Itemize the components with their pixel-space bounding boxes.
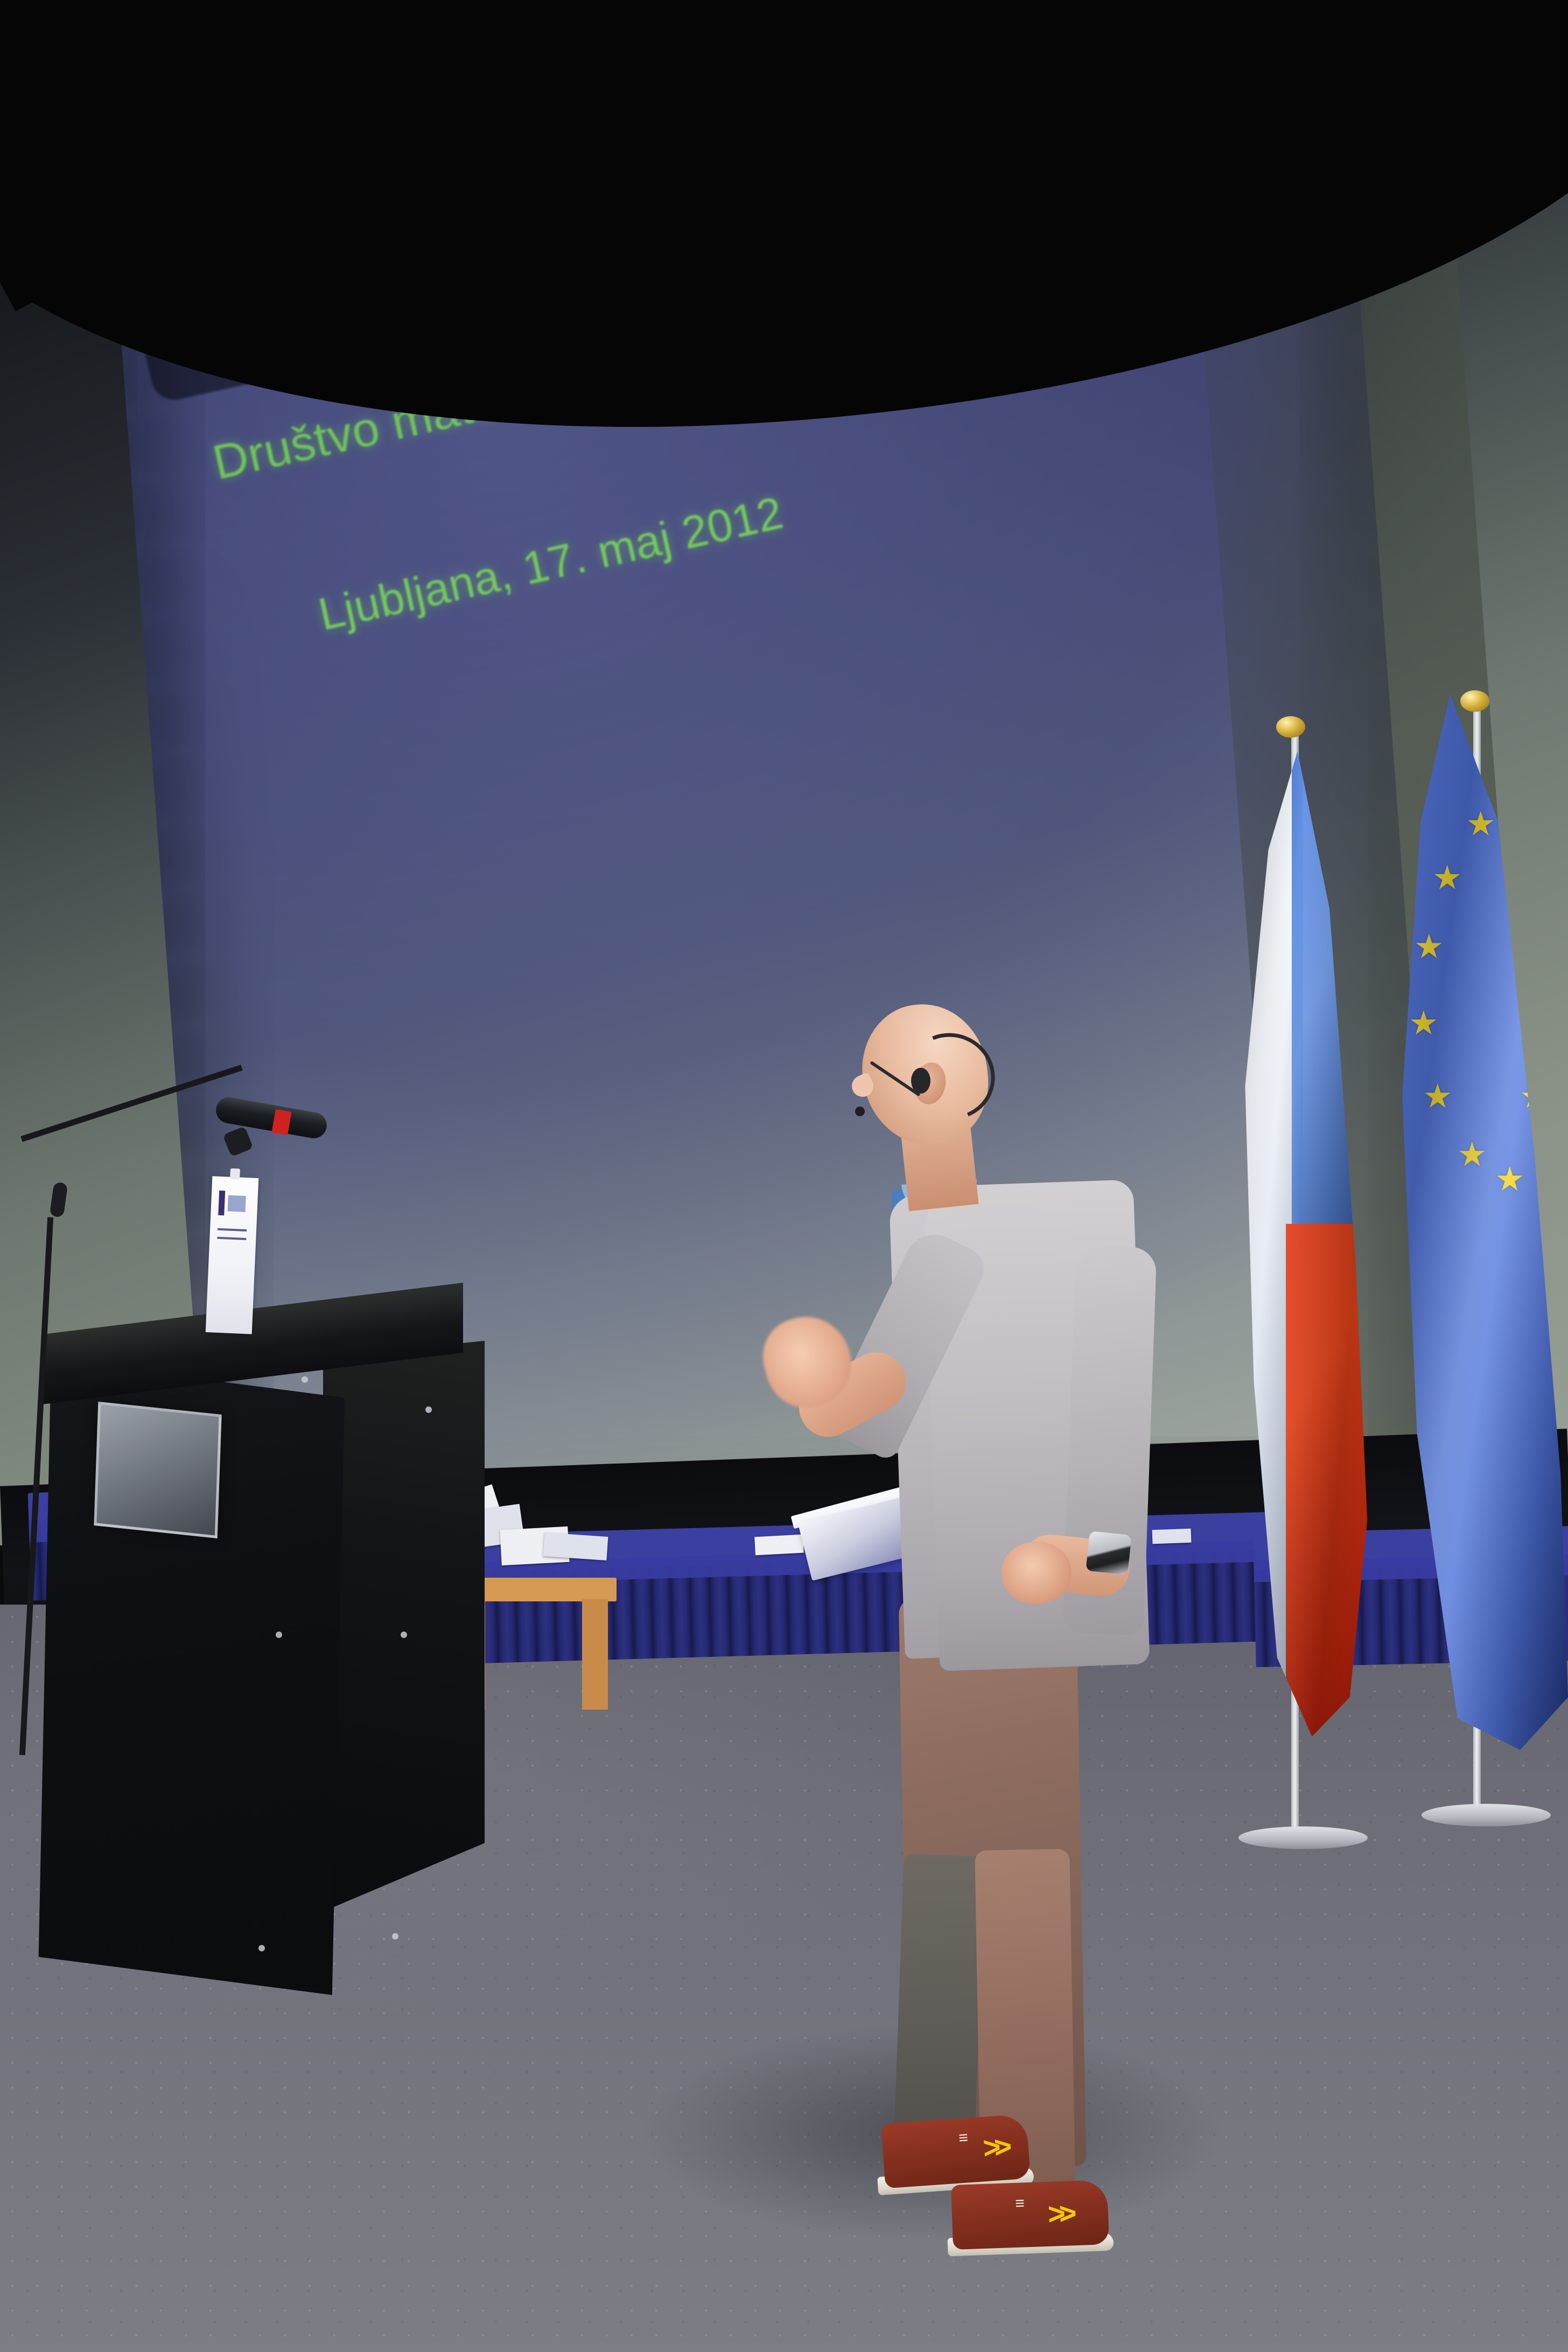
- banner-finial: [230, 1168, 240, 1180]
- shoe-chevron-icon: >>: [1047, 2198, 1070, 2229]
- certificate-stack: [543, 1532, 608, 1560]
- presenter: ≡ >> ≡ >>: [770, 993, 1255, 2297]
- lectern-stud: [302, 1376, 308, 1383]
- banner-rule: [218, 1228, 247, 1231]
- shoe-laces: ≡: [958, 2130, 967, 2147]
- lectern: [32, 1308, 463, 2062]
- lectern-stud: [276, 1632, 282, 1638]
- shoe-chevron-icon: >>: [982, 2132, 1006, 2164]
- headset-microphone-capsule: [855, 1107, 865, 1116]
- wristwatch: [1086, 1531, 1131, 1575]
- side-table-leg: [582, 1599, 608, 1710]
- stage-photo-scene: Srečanje najuspešnejših mladih matematik…: [0, 0, 1568, 2352]
- shoe-laces: ≡: [1015, 2195, 1023, 2211]
- slide-place-date: Ljubljana, 17. maj 2012: [314, 487, 788, 641]
- lectern-stud: [258, 1945, 265, 1951]
- shoe-back: ≡ >>: [881, 2114, 1031, 2189]
- banner-rule: [217, 1237, 246, 1240]
- lectern-frosted-panel: [94, 1402, 221, 1538]
- flagpole-base-slovenia: [1238, 1826, 1368, 1849]
- shoe-front: ≡ >>: [951, 2180, 1109, 2250]
- logo-square: [228, 1195, 246, 1212]
- logo-bar: [218, 1191, 225, 1215]
- flagpole-base-eu: [1422, 1804, 1551, 1826]
- lectern-stud: [425, 1406, 432, 1413]
- flag-finial-eu: [1460, 690, 1489, 712]
- podium-banner: [206, 1176, 259, 1334]
- lectern-stud: [401, 1632, 407, 1638]
- flag-finial-slovenia: [1276, 716, 1305, 738]
- organization-logo-icon: [218, 1191, 246, 1216]
- lectern-side-face: [323, 1341, 485, 1912]
- lectern-stud: [392, 1933, 398, 1940]
